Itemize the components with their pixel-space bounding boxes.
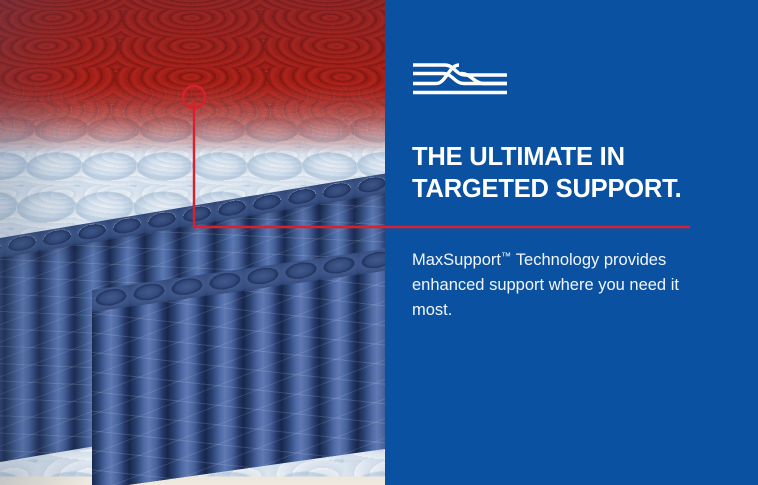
body-copy: MaxSupport™ Technology provides enhanced…: [412, 248, 692, 323]
mattress-coil-photo: [0, 0, 390, 485]
product-name: MaxSupport: [412, 251, 501, 269]
promo-banner: THE ULTIMATE INTARGETED SUPPORT. MaxSupp…: [0, 0, 758, 485]
page-title: THE ULTIMATE INTARGETED SUPPORT.: [412, 142, 742, 205]
trademark-symbol: ™: [501, 252, 512, 263]
page-title-line: THE ULTIMATE IN: [412, 143, 625, 171]
content-panel: THE ULTIMATE INTARGETED SUPPORT. MaxSupp…: [385, 0, 758, 485]
wave-lines-logo-icon: [413, 62, 507, 100]
page-title-line: TARGETED SUPPORT.: [412, 175, 682, 203]
red-accent-coil-caps-offset: [0, 0, 390, 202]
navy-coil-front-bank: [92, 254, 390, 485]
